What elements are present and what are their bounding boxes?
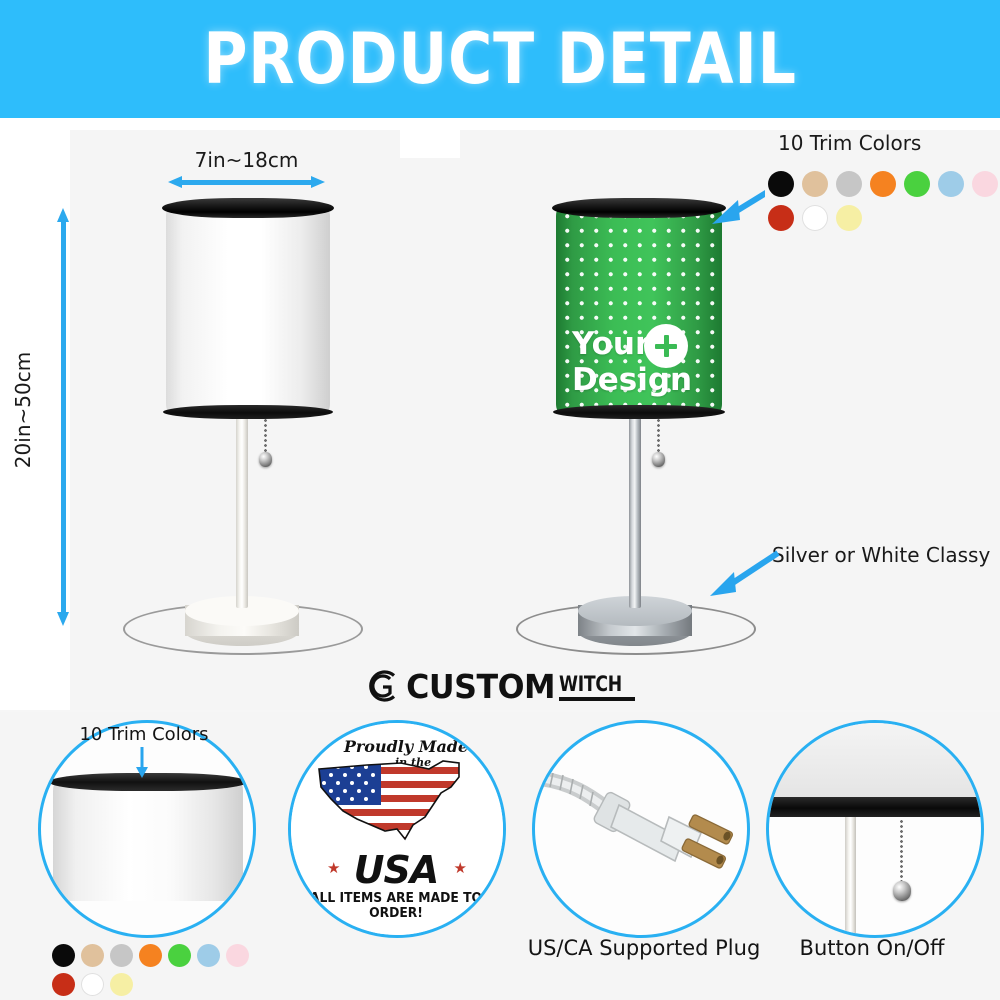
pole-closeup (845, 817, 856, 937)
trim-swatch-green[interactable] (168, 944, 191, 967)
panel-switch: Button On/Off (766, 720, 986, 1000)
arrow-shaft (176, 180, 317, 185)
trim-swatch-gray[interactable] (836, 171, 862, 197)
shade-surface (166, 206, 330, 414)
lamp-pole (629, 418, 641, 608)
stage-bg-patch-top (0, 118, 1000, 130)
classy-callout-arrow-icon (700, 548, 782, 598)
trim-swatch-tan[interactable] (81, 944, 104, 967)
shade-trim-bottom (553, 405, 725, 419)
trim-swatch-tan[interactable] (802, 171, 828, 197)
usa-flag-map-icon (309, 753, 487, 853)
trim-swatch-yellow[interactable] (836, 205, 862, 231)
brand-logo: CUSTOM WITCH (0, 660, 1000, 712)
design-placeholder-line1: Your (572, 328, 650, 361)
panel-plug: US/CA Supported Plug (524, 720, 764, 1000)
header-banner: PRODUCT DETAIL (0, 0, 1000, 118)
trim-swatch-red[interactable] (52, 973, 75, 996)
shade-closeup-body (53, 781, 243, 901)
shade-trim-closeup (766, 797, 984, 817)
trim-swatch-pink[interactable] (226, 944, 249, 967)
switch-photo-circle (766, 720, 984, 938)
trim-colors-photo-circle (38, 720, 256, 938)
width-dimension-arrow (168, 176, 325, 188)
trim-swatch-pink[interactable] (972, 171, 998, 197)
plug-photo-circle (532, 720, 750, 938)
trim-colors-callout-label: 10 Trim Colors (778, 131, 921, 155)
lamp-shade (166, 206, 330, 414)
panel-trim-colors: 10 Trim Colors (38, 720, 258, 1000)
usa-badge: Proudly Made in the (291, 723, 503, 935)
shade-trim-top (162, 198, 334, 218)
arrow-head-down-icon (57, 612, 69, 626)
trim-swatch-red[interactable] (768, 205, 794, 231)
trim-swatch-black[interactable] (768, 171, 794, 197)
arrow-shaft (61, 216, 66, 618)
trim-swatch-light-blue[interactable] (197, 944, 220, 967)
stage-bg-patch-mid (400, 118, 460, 158)
lamp-shade: Your Design (556, 206, 722, 414)
infographic-page: PRODUCT DETAIL 7in~18cm 20in~50cm (0, 0, 1000, 1000)
height-dimension-label: 20in~50cm (11, 325, 35, 495)
page-title: PRODUCT DETAIL (203, 18, 797, 100)
pull-chain-closeup[interactable] (900, 819, 903, 887)
arrow-head-right-icon (311, 176, 325, 188)
trim-color-swatches-bottom (48, 940, 266, 1000)
classy-callout-label: Silver or White Classy (772, 543, 990, 567)
two-prong-plug (541, 761, 741, 901)
trim-swatch-light-blue[interactable] (938, 171, 964, 197)
trim-swatch-black[interactable] (52, 944, 75, 967)
trim-swatch-white[interactable] (802, 205, 828, 231)
panel-plug-caption: US/CA Supported Plug (510, 936, 778, 960)
width-dimension-label: 7in~18cm (168, 148, 325, 172)
trim-swatch-green[interactable] (904, 171, 930, 197)
panel-switch-caption: Button On/Off (766, 936, 978, 960)
brand-name-main: CUSTOM (406, 667, 555, 706)
pull-chain-bead[interactable] (652, 452, 665, 467)
panel-made-in-usa: Proudly Made in the (288, 720, 508, 940)
lamp-pole (236, 418, 248, 608)
brand-underline (559, 697, 635, 701)
usa-badge-word: USA (291, 848, 501, 892)
height-dimension-arrow (57, 208, 69, 626)
panel-trim-colors-caption: 10 Trim Colors (54, 724, 234, 745)
trim-color-swatches-top (765, 168, 1000, 234)
brand-name-sub: WITCH (559, 672, 622, 696)
brand-name-sub-wrap: WITCH (559, 672, 636, 701)
shade-trim-bottom (163, 405, 333, 419)
trim-swatch-gray[interactable] (110, 944, 133, 967)
pull-chain-bead-closeup[interactable] (893, 881, 911, 901)
design-placeholder-line2: Design (572, 364, 692, 397)
feature-panels: 10 Trim Colors Proudly Made in the (0, 712, 1000, 1000)
usa-badge-tagline: ALL ITEMS ARE MADE TO ORDER! (296, 891, 496, 921)
trim-swatch-orange[interactable] (870, 171, 896, 197)
c-monogram-icon (364, 667, 402, 705)
usa-star-right-icon: ★ (454, 859, 467, 877)
pull-chain-bead[interactable] (259, 452, 272, 467)
trim-swatch-orange[interactable] (139, 944, 162, 967)
down-arrow-icon (133, 747, 151, 779)
trim-swatch-yellow[interactable] (110, 973, 133, 996)
trim-swatch-white[interactable] (81, 973, 104, 996)
shade-bottom-closeup (766, 723, 984, 801)
usa-badge-circle: Proudly Made in the (288, 720, 506, 938)
